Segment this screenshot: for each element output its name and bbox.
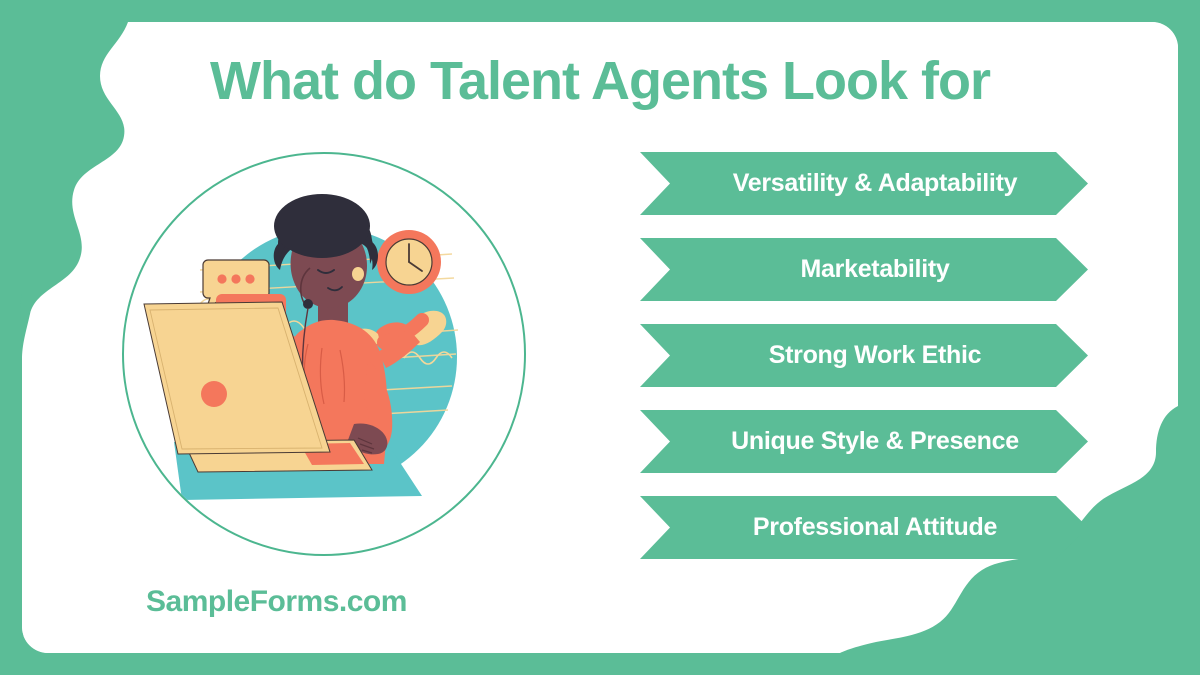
list-item-label: Strong Work Ethic <box>747 341 982 370</box>
list-item[interactable]: Unique Style & Presence <box>640 410 1088 473</box>
list-item[interactable]: Strong Work Ethic <box>640 324 1088 387</box>
list-item-label: Professional Attitude <box>731 513 997 542</box>
wall-clock <box>377 230 441 294</box>
items-list: Versatility & Adaptability Marketability… <box>640 152 1088 559</box>
top-band <box>0 0 1200 22</box>
list-item-label: Versatility & Adaptability <box>711 169 1017 198</box>
bottom-band <box>0 653 1200 675</box>
list-item-label: Marketability <box>779 255 950 284</box>
footer-brand: SampleForms.com <box>146 585 407 619</box>
illustration <box>122 152 526 556</box>
laptop-logo-dot <box>201 381 227 407</box>
list-item[interactable]: Marketability <box>640 238 1088 301</box>
list-item[interactable]: Versatility & Adaptability <box>640 152 1088 215</box>
list-item-label: Unique Style & Presence <box>709 427 1019 456</box>
illustration-artwork <box>122 152 526 556</box>
poster-root: What do Talent Agents Look for <box>0 0 1200 675</box>
list-item[interactable]: Professional Attitude <box>640 496 1088 559</box>
page-title: What do Talent Agents Look for <box>0 50 1200 112</box>
